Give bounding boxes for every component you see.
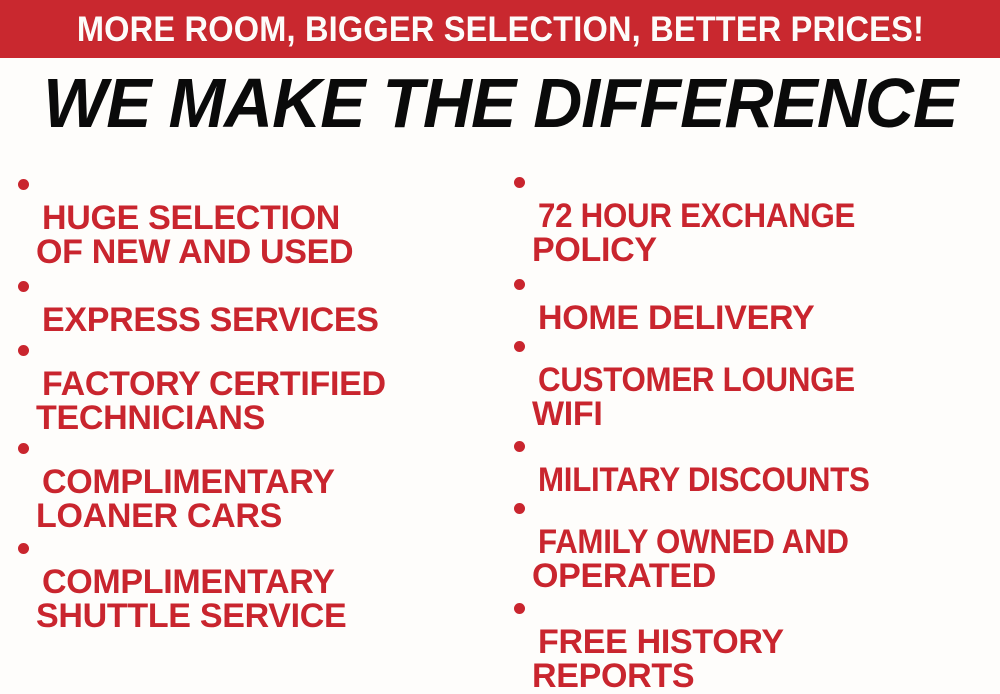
- list-item-line2: SHUTTLE SERVICE: [36, 599, 346, 634]
- list-item: FREE HISTORY REPORTS: [514, 590, 998, 694]
- list-item-label: MILITARY DISCOUNTS: [538, 428, 898, 497]
- list-item-line1: 72 HOUR EXCHANGE: [538, 199, 855, 234]
- list-item: HOME DELIVERY: [514, 266, 998, 335]
- list-item-line2: REPORTS: [532, 659, 784, 694]
- bullet-dot-icon: [18, 179, 29, 190]
- bullet-dot-icon: [18, 345, 29, 356]
- list-item-line2: OF NEW AND USED: [36, 235, 353, 270]
- benefits-column-right: 72 HOUR EXCHANGE POLICY HOME DELIVERY CU…: [500, 152, 1000, 694]
- bullet-dot-icon: [514, 441, 525, 452]
- top-banner: MORE ROOM, BIGGER SELECTION, BETTER PRIC…: [0, 0, 1000, 58]
- list-item-line2: LOANER CARS: [36, 499, 335, 534]
- bullet-dot-icon: [514, 503, 525, 514]
- list-item-line1: FAMILY OWNED AND: [538, 525, 849, 560]
- list-item-line1: FACTORY CERTIFIED: [42, 365, 386, 403]
- list-item-line2: WIFI: [532, 397, 882, 432]
- list-item-line1: COMPLIMENTARY: [42, 463, 335, 501]
- bullet-dot-icon: [514, 341, 525, 352]
- list-item-label: HOME DELIVERY: [538, 266, 814, 335]
- benefits-column-left: HUGE SELECTION OF NEW AND USED EXPRESS S…: [0, 152, 500, 694]
- list-item-line1: COMPLIMENTARY: [42, 563, 335, 601]
- banner-headline-text: MORE ROOM, BIGGER SELECTION, BETTER PRIC…: [76, 12, 923, 47]
- list-item-line1: HUGE SELECTION: [42, 199, 340, 237]
- main-headline-area: WE MAKE THE DIFFERENCE: [0, 60, 1000, 146]
- list-item-label: COMPLIMENTARY SHUTTLE SERVICE: [42, 530, 346, 669]
- bullet-dot-icon: [18, 543, 29, 554]
- list-item: COMPLIMENTARY SHUTTLE SERVICE: [18, 530, 494, 669]
- list-item: EXPRESS SERVICES: [18, 268, 494, 337]
- page-title: WE MAKE THE DIFFERENCE: [43, 68, 957, 138]
- list-item-line2: POLICY: [532, 233, 883, 268]
- benefits-columns: HUGE SELECTION OF NEW AND USED EXPRESS S…: [0, 152, 1000, 694]
- bullet-dot-icon: [18, 281, 29, 292]
- list-item-line1: FREE HISTORY: [538, 623, 784, 661]
- bullet-dot-icon: [514, 177, 525, 188]
- list-item-line1: CUSTOMER LOUNGE: [538, 363, 855, 398]
- bullet-dot-icon: [18, 443, 29, 454]
- list-item-line2: OPERATED: [532, 559, 876, 594]
- promo-poster: MORE ROOM, BIGGER SELECTION, BETTER PRIC…: [0, 0, 1000, 694]
- bullet-dot-icon: [514, 279, 525, 290]
- list-item-label: FREE HISTORY REPORTS: [538, 590, 784, 694]
- list-item: MILITARY DISCOUNTS: [514, 428, 998, 497]
- bullet-dot-icon: [514, 603, 525, 614]
- list-item-label: EXPRESS SERVICES: [42, 268, 379, 337]
